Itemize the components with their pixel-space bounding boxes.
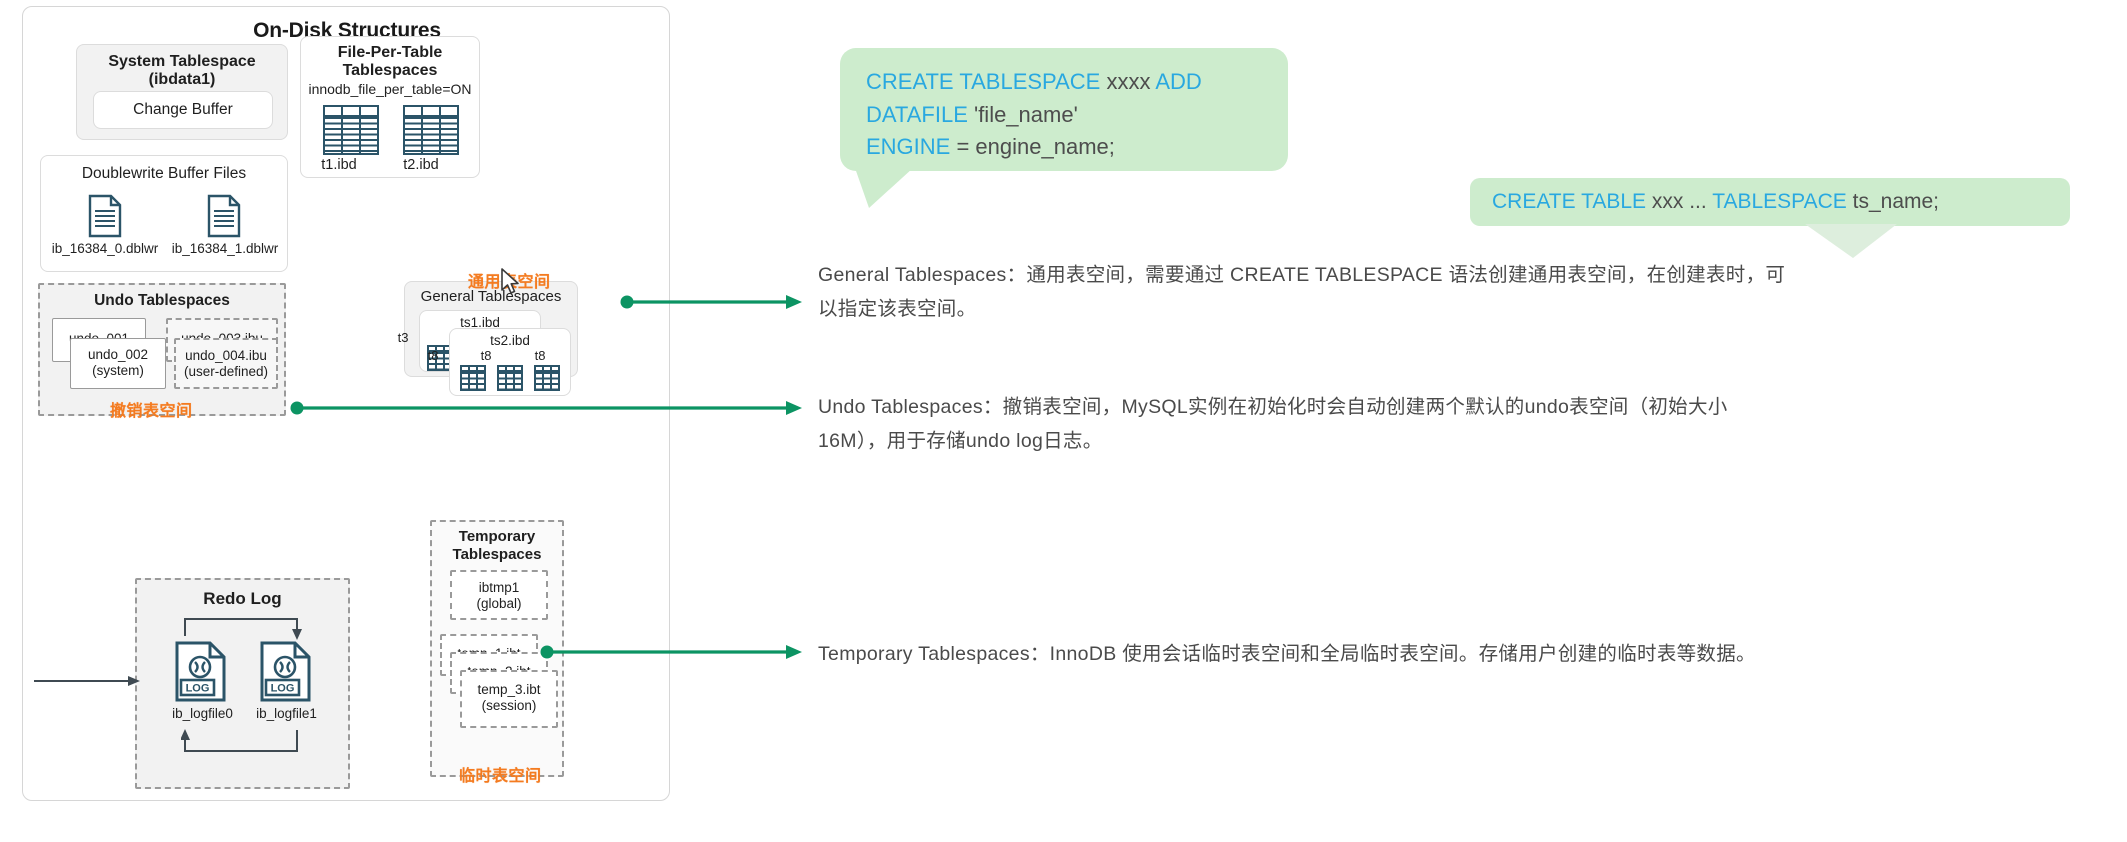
create-tablespace-callout-tail	[855, 168, 945, 212]
callout-kw: ADD	[1155, 69, 1201, 94]
redo-loop-bottom-arrow	[181, 728, 311, 758]
document-icon	[87, 194, 123, 238]
doublewrite-buffer-panel: Doublewrite Buffer Files ib_16384_0.dblw…	[40, 155, 288, 272]
undo-004-label: undo_004.ibu	[176, 348, 276, 363]
table-file-icon	[323, 105, 379, 155]
temp-3-label: temp_3.ibt	[462, 682, 556, 697]
redo-log-file-icon: LOG	[172, 640, 230, 704]
system-tablespace-title-line2: (ibdata1)	[77, 71, 287, 89]
callout-val: xxxx	[1106, 69, 1155, 94]
desc-line-1: Undo Tablespaces：撤销表空间，MySQL实例在初始化时会自动创建…	[818, 390, 2098, 424]
desc-line-1: General Tablespaces：通用表空间，需要通过 CREATE TA…	[818, 258, 2098, 292]
file-per-table-title-line1: File-Per-Table	[301, 44, 479, 62]
ts2-label: ts2.ibd	[450, 333, 570, 348]
undo-004-note: (user-defined)	[176, 364, 276, 379]
callout-val: 'file_name'	[968, 102, 1078, 127]
file-per-table-title-line2: Tablespaces	[301, 62, 479, 80]
table-file-icon	[403, 105, 459, 155]
mouse-cursor-icon	[500, 268, 522, 298]
undo-002-note: (system)	[71, 363, 165, 378]
desc-line-1: Temporary Tablespaces：InnoDB 使用会话临时表空间和全…	[818, 637, 2098, 671]
callout-line-3: ENGINE = engine_name;	[866, 131, 1202, 164]
ts2-table-2: t8	[479, 349, 601, 364]
change-buffer-box: Change Buffer	[93, 91, 273, 129]
callout-val: ts_name;	[1853, 190, 1939, 213]
general-tablespaces-connector	[620, 290, 810, 314]
temporary-tablespaces-title-line2: Tablespaces	[432, 547, 562, 564]
desc-line-2: 16M），用于存储undo log日志。	[818, 424, 2098, 458]
ibtmp1-box: ibtmp1 (global)	[450, 570, 548, 620]
doublewrite-file-1: ib_16384_1.dblwr	[101, 241, 349, 256]
callout-kw: TABLESPACE	[1712, 190, 1852, 213]
temporary-tablespaces-title-line1: Temporary	[432, 529, 562, 546]
undo-tablespaces-title: Undo Tablespaces	[40, 292, 284, 309]
table-file-icon	[534, 365, 560, 391]
system-tablespace-panel: System Tablespace (ibdata1) Change Buffe…	[76, 44, 288, 140]
table-file-icon	[497, 365, 523, 391]
redo-log-title: Redo Log	[137, 589, 348, 608]
file-per-table-file-1: t2.ibd	[331, 157, 511, 174]
table-file-icon	[460, 365, 486, 391]
doublewrite-buffer-title: Doublewrite Buffer Files	[41, 165, 287, 183]
temporary-annotation-cn: 临时表空间	[459, 762, 542, 786]
callout-kw: CREATE TABLESPACE	[866, 69, 1106, 94]
redo-loop-top-arrow	[181, 614, 311, 642]
system-tablespace-title-line1: System Tablespace	[77, 53, 287, 71]
callout-line-2: DATAFILE 'file_name'	[866, 99, 1202, 132]
ibtmp1-label: ibtmp1	[452, 580, 546, 595]
callout-kw: DATAFILE	[866, 102, 968, 127]
screenshot-root: On-Disk Structures System Tablespace (ib…	[0, 0, 2127, 842]
general-tablespaces-panel: General Tablespaces ts1.ibd t3 t4 t5 ts2…	[404, 281, 578, 377]
callout-line-1: CREATE TABLESPACE xxxx ADD	[866, 66, 1202, 99]
redo-log-file-icon: LOG	[257, 640, 315, 704]
svg-text:LOG: LOG	[271, 683, 295, 695]
file-per-table-panel: File-Per-Table Tablespaces innodb_file_p…	[300, 36, 480, 178]
redo-log-input-arrow	[34, 672, 144, 690]
file-per-table-subtitle: innodb_file_per_table=ON	[301, 81, 479, 97]
undo-annotation-cn: 撤销表空间	[110, 397, 193, 421]
ts2-box: ts2.ibd t8 t8 t8	[449, 328, 571, 396]
document-icon	[206, 194, 242, 238]
callout-kw: CREATE TABLE	[1492, 190, 1652, 213]
callout-kw: ENGINE	[866, 134, 956, 159]
create-tablespace-callout: CREATE TABLESPACE xxxx ADD DATAFILE 'fil…	[840, 48, 1288, 171]
redo-log-panel: Redo Log LOG LOG ib_logfile0 ib_logfile1	[135, 578, 350, 789]
undo-tablespaces-connector	[290, 396, 810, 420]
temp-3-note: (session)	[462, 698, 556, 713]
undo-004-box: undo_004.ibu (user-defined)	[174, 338, 278, 389]
svg-text:LOG: LOG	[186, 683, 210, 695]
temp-3-box: temp_3.ibt (session)	[460, 670, 558, 728]
redo-log-file-1: ib_logfile1	[179, 706, 394, 721]
undo-tablespaces-description: Undo Tablespaces：撤销表空间，MySQL实例在初始化时会自动创建…	[818, 390, 2098, 458]
temporary-tablespaces-description: Temporary Tablespaces：InnoDB 使用会话临时表空间和全…	[818, 637, 2098, 671]
undo-002-box: undo_002 (system)	[70, 338, 166, 389]
callout-val: xxx ...	[1652, 190, 1712, 213]
create-table-callout: CREATE TABLE xxx ... TABLESPACE ts_name;	[1470, 178, 2070, 226]
ibtmp1-note: (global)	[452, 596, 546, 611]
temporary-tablespaces-connector	[540, 640, 810, 664]
desc-line-2: 以指定该表空间。	[818, 292, 2098, 326]
change-buffer-label: Change Buffer	[94, 101, 272, 119]
undo-002-label: undo_002	[71, 347, 165, 362]
callout-val: = engine_name;	[956, 134, 1114, 159]
general-tablespaces-description: General Tablespaces：通用表空间，需要通过 CREATE TA…	[818, 258, 2098, 326]
